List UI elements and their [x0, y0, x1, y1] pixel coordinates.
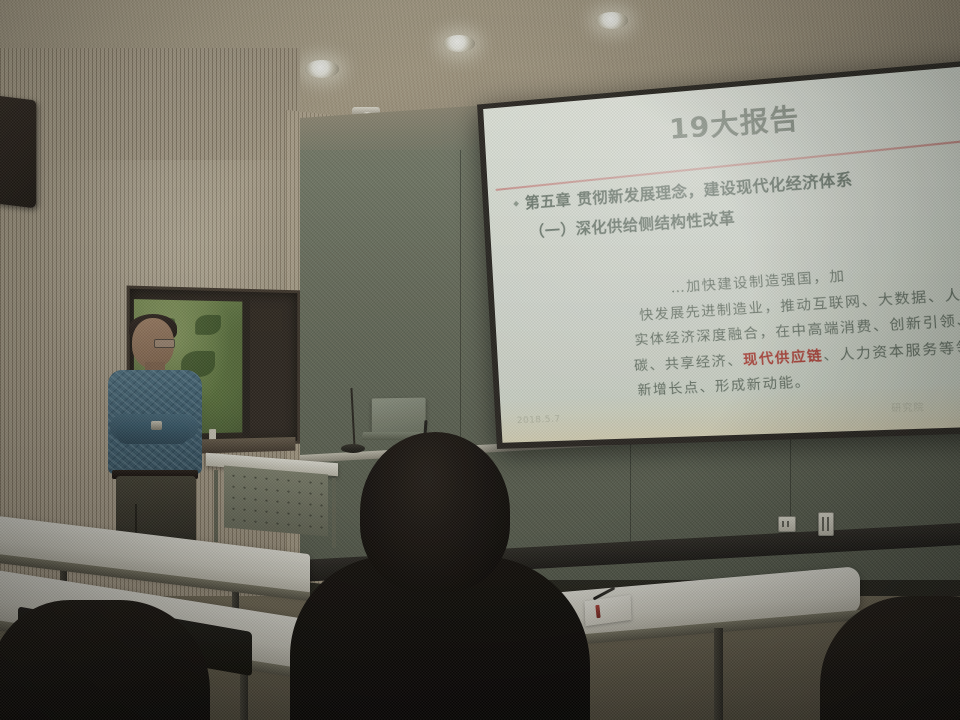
slide-body: 第五章 贯彻新发展理念，建设现代化经济体系 （一）深化供给侧结构性改革 …加快建… [514, 157, 960, 243]
side-table-panel [224, 465, 328, 536]
handwritten-overlay: …加快建设制造强国，加 快发展先进制造业，推动互联网、大数据、人工智能和 实体经… [670, 259, 960, 406]
perforated-panel-texture [228, 470, 324, 532]
bullet-dot-icon [513, 201, 519, 207]
classroom-photo-scene: 19大报告 第五章 贯彻新发展理念，建设现代化经济体系 （一）深化供给侧结构性改… [0, 0, 960, 720]
glasses-icon [154, 339, 175, 348]
highlight-term: 现代供应链 [743, 347, 824, 368]
handwritten-line-4-pre: 碳、共享经济、 [634, 352, 744, 375]
wall-speaker-icon [0, 96, 36, 209]
presenter [96, 318, 220, 550]
side-table-leg [214, 470, 218, 542]
slide-footer-org: 研究院 [891, 400, 925, 415]
wristwatch-icon [151, 421, 162, 430]
ceiling-downlight-icon [305, 60, 339, 78]
handwritten-line-4-post: 、人力资本服务等领域培育 [823, 336, 960, 364]
projection-screen-frame: 19大报告 第五章 贯彻新发展理念，建设现代化经济体系 （一）深化供给侧结构性改… [477, 57, 960, 449]
ceiling-downlight-icon [596, 12, 628, 29]
projection-screen: 19大报告 第五章 贯彻新发展理念，建设现代化经济体系 （一）深化供给侧结构性改… [483, 63, 960, 443]
ceiling-downlight-icon [443, 35, 475, 52]
audience-member-head [360, 432, 510, 592]
microphone-base [341, 444, 365, 453]
side-table-leg [332, 478, 336, 548]
slide-footer-date: 2018.5.7 [517, 414, 561, 426]
wall-outlet-icon[interactable] [778, 516, 796, 532]
window-mullion [242, 296, 250, 437]
wall-data-port-icon[interactable] [818, 512, 834, 536]
laptop-screen [372, 398, 426, 435]
